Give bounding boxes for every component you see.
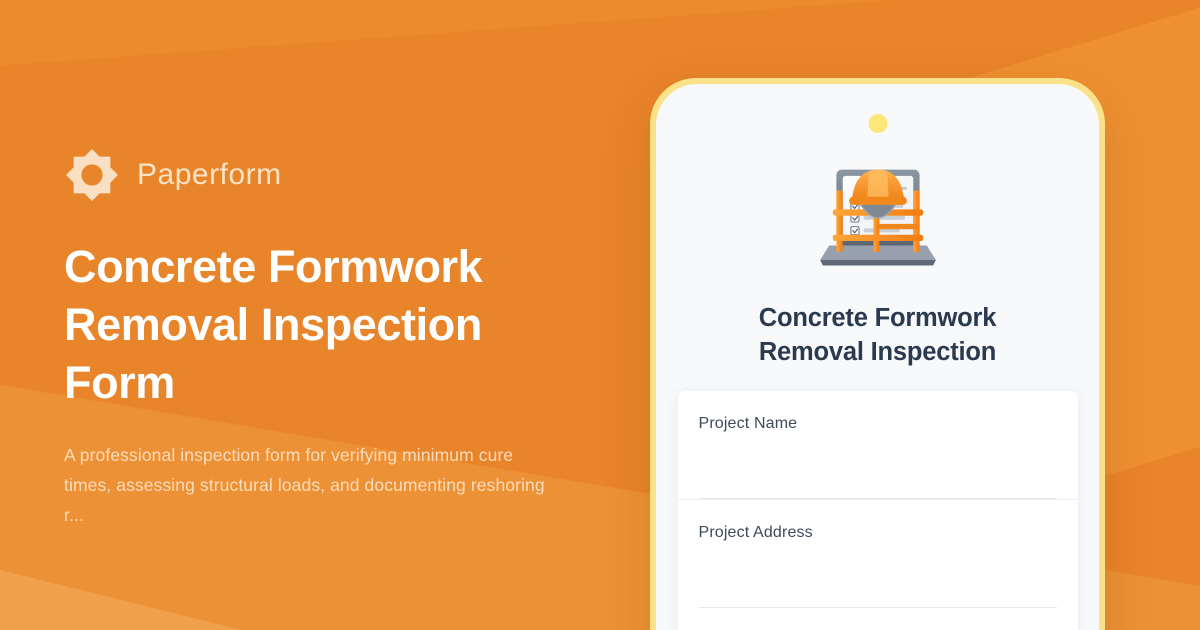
project-address-input[interactable] — [699, 582, 1057, 608]
social-card-canvas: Paperform Concrete Formwork Removal Insp… — [0, 0, 1200, 630]
brand-lockup: Paperform — [64, 146, 664, 204]
construction-checklist-laptop-hardhat-icon — [805, 147, 951, 279]
project-name-input[interactable] — [699, 473, 1057, 499]
form-field-project-name[interactable]: Project Name — [678, 391, 1078, 500]
form-preview-heading: Concrete Formwork Removal Inspection — [713, 301, 1043, 369]
page-title: Concrete Formwork Removal Inspection For… — [64, 238, 584, 412]
page-description: A professional inspection form for verif… — [64, 440, 554, 530]
field-label: Project Name — [699, 413, 1057, 435]
form-field-project-address[interactable]: Project Address — [678, 500, 1078, 608]
phone-screen: Concrete Formwork Removal Inspection Pro… — [656, 84, 1099, 630]
brand-name: Paperform — [137, 160, 282, 190]
camera-dot-icon — [868, 114, 887, 133]
hero-text-column: Paperform Concrete Formwork Removal Insp… — [64, 0, 664, 630]
paperform-logo-icon — [64, 147, 120, 203]
field-label: Project Address — [699, 522, 1057, 544]
phone-mockup: Concrete Formwork Removal Inspection Pro… — [650, 78, 1105, 630]
form-preview-card: Project Name Project Address — [678, 391, 1078, 630]
